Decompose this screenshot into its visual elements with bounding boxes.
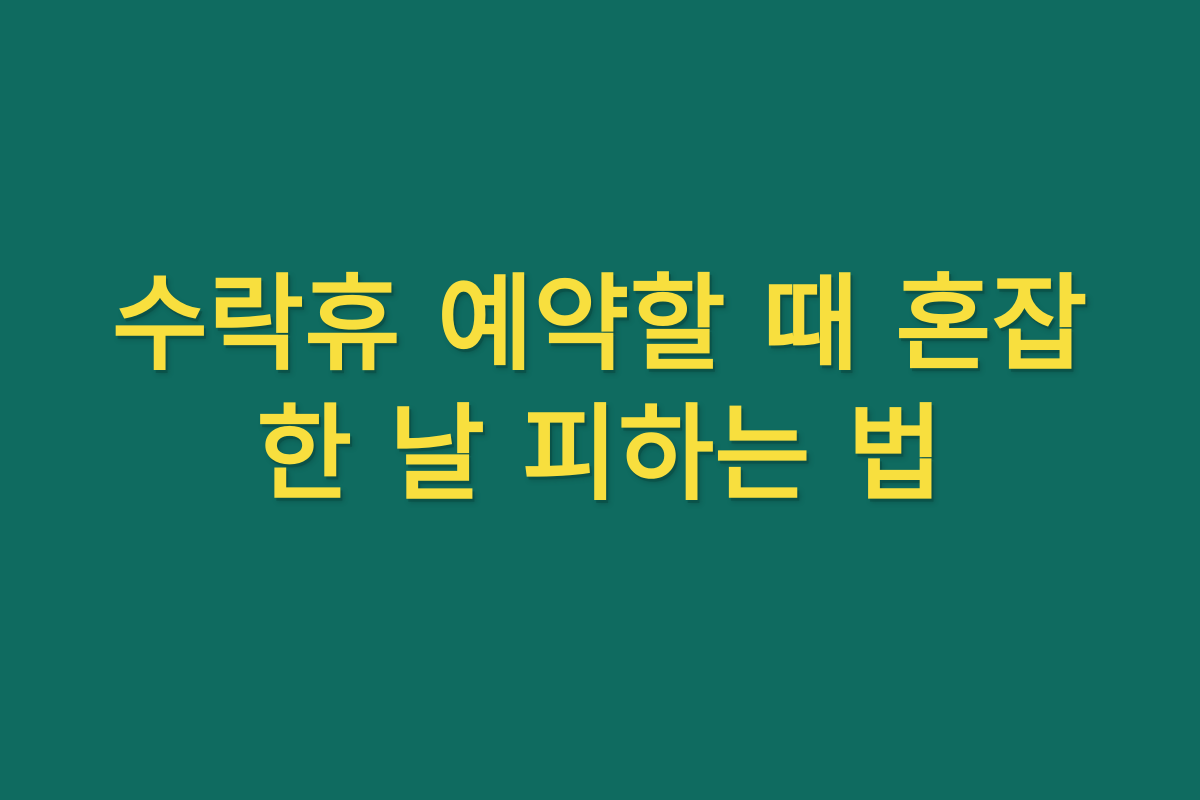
banner-title-line-2: 한 날 피하는 법 [95,389,1105,519]
banner-title-line-1: 수락휴 예약할 때 혼잡 [95,259,1105,389]
banner-canvas: 수락휴 예약할 때 혼잡 한 날 피하는 법 [0,0,1200,800]
banner-title: 수락휴 예약할 때 혼잡 한 날 피하는 법 [95,259,1105,519]
